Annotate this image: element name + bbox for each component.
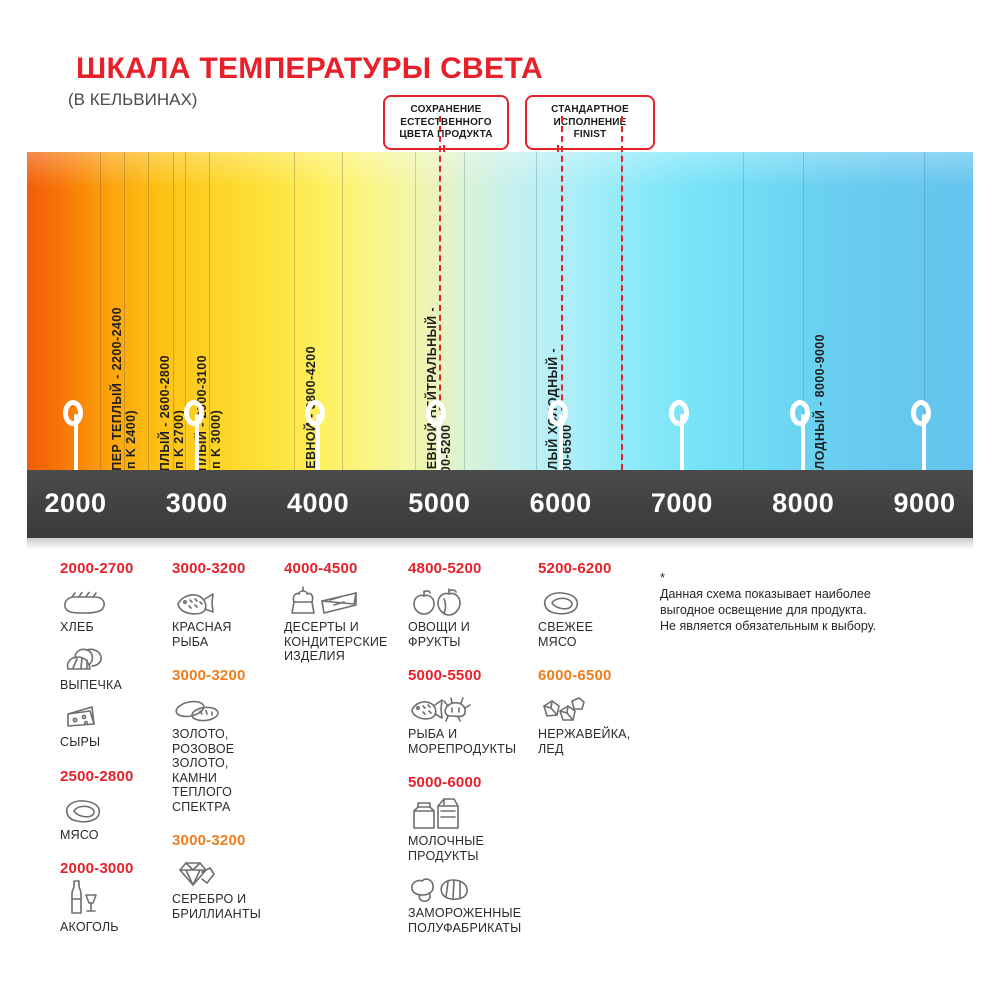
croissant-icon <box>60 641 164 675</box>
legend-group: 2000-3000АКОГОЛЬ <box>60 860 164 935</box>
legend-item-caption: СЕРЕБРО ИБРИЛЛИАНТЫ <box>172 892 276 921</box>
caption-line: РЫБА <box>172 635 276 650</box>
legend-item-caption: НЕРЖАВЕЙКА,ЛЕД <box>538 727 642 756</box>
legend-item[interactable]: СЫРЫ <box>60 698 164 750</box>
legend-group: 4000-4500ДЕСЕРТЫ ИКОНДИТЕРСКИЕИЗДЕЛИЯ <box>284 560 402 664</box>
vegetables-fruits-icon <box>408 583 528 617</box>
legend-column: 2000-2700ХЛЕБВЫПЕЧКАСЫРЫ2500-2800МЯСО200… <box>60 560 164 935</box>
band-label: СУПЕР ТЕПЛЫЙ - 2200-2400(тип K 2400) <box>110 307 138 488</box>
band-label: ХОЛОДНЫЙ - 8000-9000 <box>813 334 827 488</box>
dairy-icon <box>408 797 528 831</box>
legend-column: 4000-4500ДЕСЕРТЫ ИКОНДИТЕРСКИЕИЗДЕЛИЯ <box>284 560 402 664</box>
legend-item-caption: СЫРЫ <box>60 735 164 750</box>
legend-item-caption: МОЛОЧНЫЕ ПРОДУКТЫ <box>408 834 528 863</box>
footnote-line: Данная схема показывает наиболее <box>660 586 978 602</box>
legend-range-label: 5000-6000 <box>408 774 528 791</box>
axis-tick-label: 4000 <box>287 488 349 519</box>
legend-range-label: 3000-3200 <box>172 560 276 577</box>
legend-group: 2500-2800МЯСО <box>60 768 164 843</box>
legend-column: 5200-6200СВЕЖЕЕМЯСО6000-6500НЕРЖАВЕЙКА,Л… <box>538 560 642 756</box>
caption-line: МОЛОЧНЫЕ ПРОДУКТЫ <box>408 834 528 863</box>
legend-item[interactable]: СЕРЕБРО ИБРИЛЛИАНТЫ <box>172 855 276 921</box>
legend-range-label: 5000-5500 <box>408 667 528 684</box>
caption-line: ВЫПЕЧКА <box>60 678 164 693</box>
alcohol-icon <box>60 883 164 917</box>
caption-line: СЫРЫ <box>60 735 164 750</box>
caption-line: ПОЛУФАБРИКАТЫ <box>408 921 528 936</box>
caption-line: РОЗОВОЕ ЗОЛОТО, <box>172 742 276 771</box>
legend-group: 3000-3200СЕРЕБРО ИБРИЛЛИАНТЫ <box>172 832 276 921</box>
fish-icon <box>172 583 276 617</box>
caption-line: МОРЕПРОДУКТЫ <box>408 742 528 757</box>
caption-line: МЯСО <box>538 635 642 650</box>
axis-tick-label: 6000 <box>530 488 592 519</box>
band-divider <box>342 152 343 470</box>
legend-item[interactable]: НЕРЖАВЕЙКА,ЛЕД <box>538 690 642 756</box>
caption-line: СПЕКТРА <box>172 800 276 815</box>
legend-item-caption: ЗОЛОТО,РОЗОВОЕ ЗОЛОТО,КАМНИ ТЕПЛОГОСПЕКТ… <box>172 727 276 814</box>
dessert-icon <box>284 583 402 617</box>
caption-line: ФРУКТЫ <box>408 635 528 650</box>
legend-item-caption: МЯСО <box>60 828 164 843</box>
axis-tick-label: 7000 <box>651 488 713 519</box>
band-label-line: СУПЕР ТЕПЛЫЙ - 2200-2400 <box>110 307 124 488</box>
callout-line: ЕСТЕСТВЕННОГО <box>389 117 503 130</box>
caption-line: ЛЕД <box>538 742 642 757</box>
band-label-line: (тип K 3000) <box>209 355 223 488</box>
legend-item[interactable]: РЫБА ИМОРЕПРОДУКТЫ <box>408 690 528 756</box>
legend-item[interactable]: ВЫПЕЧКА <box>60 641 164 693</box>
annotation-dashed-line <box>621 116 623 470</box>
legend-group: 5000-5500РЫБА ИМОРЕПРОДУКТЫ <box>408 667 528 756</box>
fresh-meat-icon <box>538 583 642 617</box>
legend-range-label: 6000-6500 <box>538 667 642 684</box>
legend-group: 3000-3200КРАСНАЯРЫБА <box>172 560 276 649</box>
callout-line: ИСПОЛНЕНИЕ <box>531 117 649 130</box>
legend-range-label: 2000-3000 <box>60 860 164 877</box>
caption-line: РЫБА И <box>408 727 528 742</box>
legend-item-caption: ХЛЕБ <box>60 620 164 635</box>
band-label: ТЕПЛЫЙ - 2600-2800(тип K 2700) <box>158 355 186 488</box>
caption-line: КАМНИ ТЕПЛОГО <box>172 771 276 800</box>
caption-line: ИЗДЕЛИЯ <box>284 649 402 664</box>
legend-item[interactable]: ДЕСЕРТЫ ИКОНДИТЕРСКИЕИЗДЕЛИЯ <box>284 583 402 664</box>
page-title: ШКАЛА ТЕМПЕРАТУРЫ СВЕТА <box>76 52 543 86</box>
callout-line: FINIST <box>531 129 649 142</box>
band-label-line: ХОЛОДНЫЙ - 8000-9000 <box>813 334 827 488</box>
caption-line: КОНДИТЕРСКИЕ <box>284 635 402 650</box>
page-subtitle: (В КЕЛЬВИНАХ) <box>68 90 197 110</box>
legend-column: 4800-5200ОВОЩИ ИФРУКТЫ5000-5500РЫБА ИМОР… <box>408 560 528 935</box>
legend-item[interactable]: ОВОЩИ ИФРУКТЫ <box>408 583 528 649</box>
product-legend: 2000-2700ХЛЕБВЫПЕЧКАСЫРЫ2500-2800МЯСО200… <box>0 560 1000 1000</box>
band-divider <box>536 152 537 470</box>
legend-item-caption: СВЕЖЕЕМЯСО <box>538 620 642 649</box>
caption-line: БРИЛЛИАНТЫ <box>172 907 276 922</box>
legend-item-caption: АКОГОЛЬ <box>60 920 164 935</box>
infographic-root: ШКАЛА ТЕМПЕРАТУРЫ СВЕТА (В КЕЛЬВИНАХ) СО… <box>0 0 1000 1000</box>
caption-line: МЯСО <box>60 828 164 843</box>
legend-range-label: 2000-2700 <box>60 560 164 577</box>
band-label-line: (тип K 2700) <box>172 355 186 488</box>
diamond-icon <box>172 855 276 889</box>
legend-range-label: 2500-2800 <box>60 768 164 785</box>
legend-item[interactable]: ЗАМОРОЖЕННЫЕПОЛУФАБРИКАТЫ <box>408 869 528 935</box>
footnote-line: Не является обязательным к выбору. <box>660 618 978 634</box>
band-divider <box>148 152 149 470</box>
legend-group: 4800-5200ОВОЩИ ИФРУКТЫ <box>408 560 528 649</box>
legend-range-label: 3000-3200 <box>172 667 276 684</box>
footnote-text: Данная схема показывает наиболеевыгодное… <box>660 586 978 634</box>
band-label-line: (тип K 2400) <box>124 307 138 488</box>
caption-line: ДЕСЕРТЫ И <box>284 620 402 635</box>
legend-item-caption: КРАСНАЯРЫБА <box>172 620 276 649</box>
band-divider <box>294 152 295 470</box>
callout-line: СОХРАНЕНИЕ <box>389 104 503 117</box>
caption-line: КРАСНАЯ <box>172 620 276 635</box>
band-divider <box>100 152 101 470</box>
band-label-line: ТЕПЛЫЙ - 2600-2800 <box>158 355 172 488</box>
bread-icon <box>60 583 164 617</box>
legend-range-label: 4000-4500 <box>284 560 402 577</box>
axis-tick-label: 8000 <box>772 488 834 519</box>
legend-item-caption: ЗАМОРОЖЕННЫЕПОЛУФАБРИКАТЫ <box>408 906 528 935</box>
band-divider <box>415 152 416 470</box>
legend-item[interactable]: МОЛОЧНЫЕ ПРОДУКТЫ <box>408 797 528 863</box>
footnote-line: выгодное освещение для продукта. <box>660 602 978 618</box>
footnote-star: * <box>660 570 665 586</box>
temperature-scale: СУПЕР ТЕПЛЫЙ - 2200-2400(тип K 2400)ТЕПЛ… <box>27 152 973 550</box>
band-divider <box>464 152 465 470</box>
axis-tick-label: 2000 <box>44 488 106 519</box>
legend-item-caption: ДЕСЕРТЫ ИКОНДИТЕРСКИЕИЗДЕЛИЯ <box>284 620 402 664</box>
pin-ring <box>669 400 689 426</box>
legend-item-caption: РЫБА ИМОРЕПРОДУКТЫ <box>408 727 528 756</box>
legend-item[interactable]: КРАСНАЯРЫБА <box>172 583 276 649</box>
legend-item[interactable]: ЗОЛОТО,РОЗОВОЕ ЗОЛОТО,КАМНИ ТЕПЛОГОСПЕКТ… <box>172 690 276 814</box>
legend-group: 2000-2700ХЛЕБВЫПЕЧКАСЫРЫ <box>60 560 164 750</box>
band-divider <box>743 152 744 470</box>
legend-item[interactable]: СВЕЖЕЕМЯСО <box>538 583 642 649</box>
callout-box-2: СТАНДАРТНОЕИСПОЛНЕНИЕFINIST <box>525 95 655 150</box>
legend-group: 3000-3200ЗОЛОТО,РОЗОВОЕ ЗОЛОТО,КАМНИ ТЕП… <box>172 667 276 814</box>
legend-item[interactable]: АКОГОЛЬ <box>60 883 164 935</box>
rings-icon <box>172 690 276 724</box>
legend-range-label: 5200-6200 <box>538 560 642 577</box>
ice-cubes-icon <box>538 690 642 724</box>
legend-group: 5200-6200СВЕЖЕЕМЯСО <box>538 560 642 649</box>
legend-item[interactable]: ХЛЕБ <box>60 583 164 635</box>
caption-line: НЕРЖАВЕЙКА, <box>538 727 642 742</box>
pin-ring <box>63 400 83 426</box>
legend-group: 6000-6500НЕРЖАВЕЙКА,ЛЕД <box>538 667 642 756</box>
legend-range-label: 3000-3200 <box>172 832 276 849</box>
legend-item-caption: ВЫПЕЧКА <box>60 678 164 693</box>
legend-item-caption: ОВОЩИ ИФРУКТЫ <box>408 620 528 649</box>
pin-ring <box>305 400 325 426</box>
caption-line: ХЛЕБ <box>60 620 164 635</box>
axis-tick-label: 3000 <box>166 488 228 519</box>
steak-icon <box>60 791 164 825</box>
caption-line: СВЕЖЕЕ <box>538 620 642 635</box>
legend-column: 3000-3200КРАСНАЯРЫБА3000-3200ЗОЛОТО,РОЗО… <box>172 560 276 921</box>
seafood-icon <box>408 690 528 724</box>
caption-line: ОВОЩИ И <box>408 620 528 635</box>
callout-line: ЦВЕТА ПРОДУКТА <box>389 129 503 142</box>
callout-line: СТАНДАРТНОЕ <box>531 104 649 117</box>
caption-line: АКОГОЛЬ <box>60 920 164 935</box>
caption-line: ЗОЛОТО, <box>172 727 276 742</box>
cheese-icon <box>60 698 164 732</box>
legend-item[interactable]: МЯСО <box>60 791 164 843</box>
legend-range-label: 4800-5200 <box>408 560 528 577</box>
pin-ring <box>548 400 568 426</box>
legend-group: 5000-6000МОЛОЧНЫЕ ПРОДУКТЫЗАМОРОЖЕННЫЕПО… <box>408 774 528 935</box>
axis-tick-label: 5000 <box>408 488 470 519</box>
pin-ring <box>184 400 204 426</box>
caption-line: СЕРЕБРО И <box>172 892 276 907</box>
caption-line: ЗАМОРОЖЕННЫЕ <box>408 906 528 921</box>
callout-box-1: СОХРАНЕНИЕЕСТЕСТВЕННОГОЦВЕТА ПРОДУКТА <box>383 95 509 150</box>
legend-footnote: * Данная схема показывает наиболеевыгодн… <box>660 570 978 634</box>
axis-tick-label: 9000 <box>893 488 955 519</box>
frozen-food-icon <box>408 869 528 903</box>
